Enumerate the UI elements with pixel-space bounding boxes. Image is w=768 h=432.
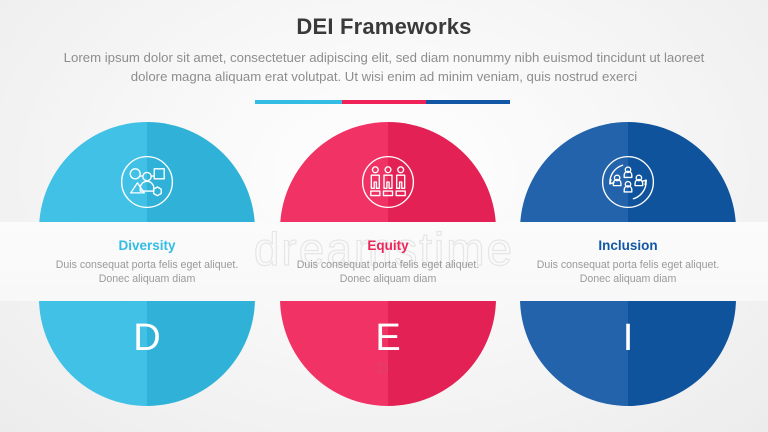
card-inclusion[interactable]: Inclusion Duis consequat porta felis ege… (508, 238, 748, 286)
big-letter-diversity: D (39, 316, 255, 360)
card-description-inclusion: Duis consequat porta felis eget aliquet.… (508, 259, 748, 286)
card-title-equity: Equity (268, 238, 508, 254)
card-description-diversity: Duis consequat porta felis eget aliquet.… (27, 259, 267, 286)
card-description-equity: Duis consequat porta felis eget aliquet.… (268, 259, 508, 286)
card-equity[interactable]: Equity Duis consequat porta felis eget a… (268, 238, 508, 286)
card-title-diversity: Diversity (27, 238, 267, 254)
big-letter-equity: E (280, 316, 496, 360)
big-letter-inclusion: I (520, 316, 736, 360)
card-title-inclusion: Inclusion (508, 238, 748, 254)
card-diversity[interactable]: Diversity Duis consequat porta felis ege… (27, 238, 267, 286)
circles-layer (0, 0, 768, 432)
